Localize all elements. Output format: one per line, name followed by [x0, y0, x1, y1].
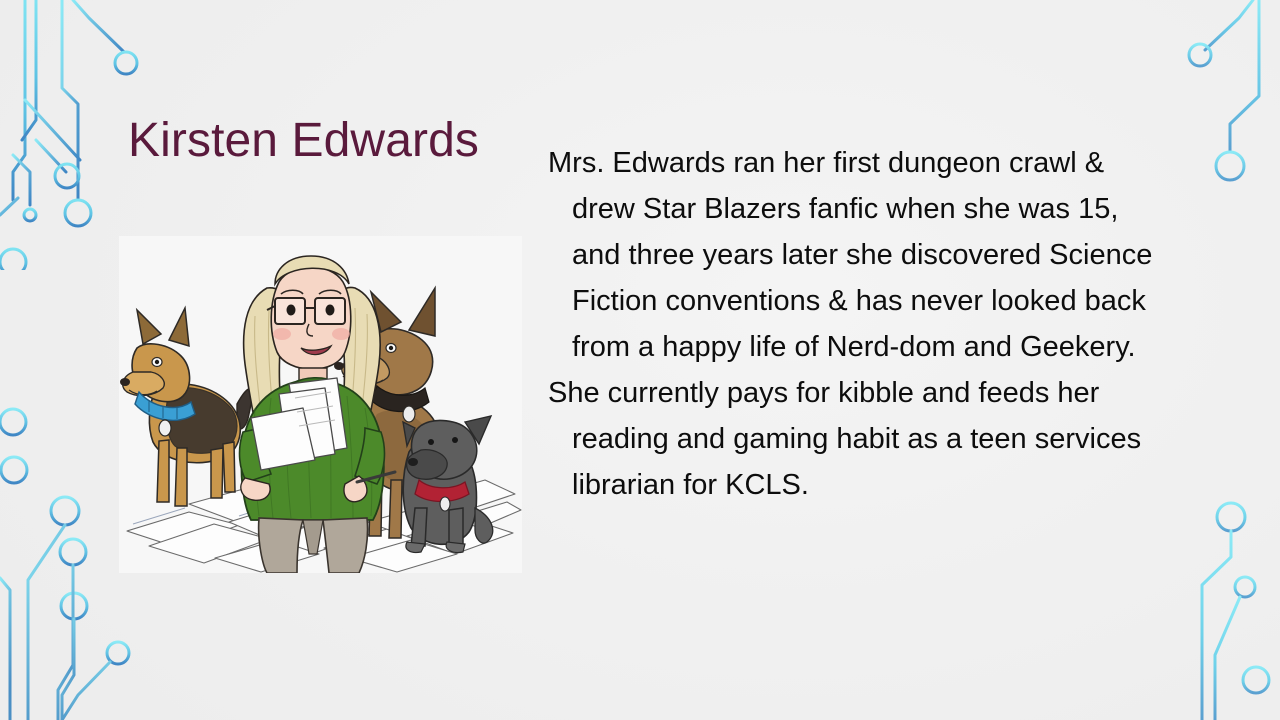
- circuit-decoration-bottom-right: [1160, 475, 1280, 720]
- biography-paragraph-2: She currently pays for kibble and feeds …: [548, 370, 1158, 508]
- slide: Kirsten Edwards: [0, 0, 1280, 720]
- portrait-illustration: [119, 236, 522, 573]
- circuit-decoration-top-right: [1160, 0, 1280, 185]
- illustration-drawing: [119, 236, 522, 573]
- page-title: Kirsten Edwards: [128, 110, 479, 172]
- biography-text: Mrs. Edwards ran her first dungeon crawl…: [548, 140, 1158, 508]
- biography-paragraph-1: Mrs. Edwards ran her first dungeon crawl…: [548, 140, 1158, 370]
